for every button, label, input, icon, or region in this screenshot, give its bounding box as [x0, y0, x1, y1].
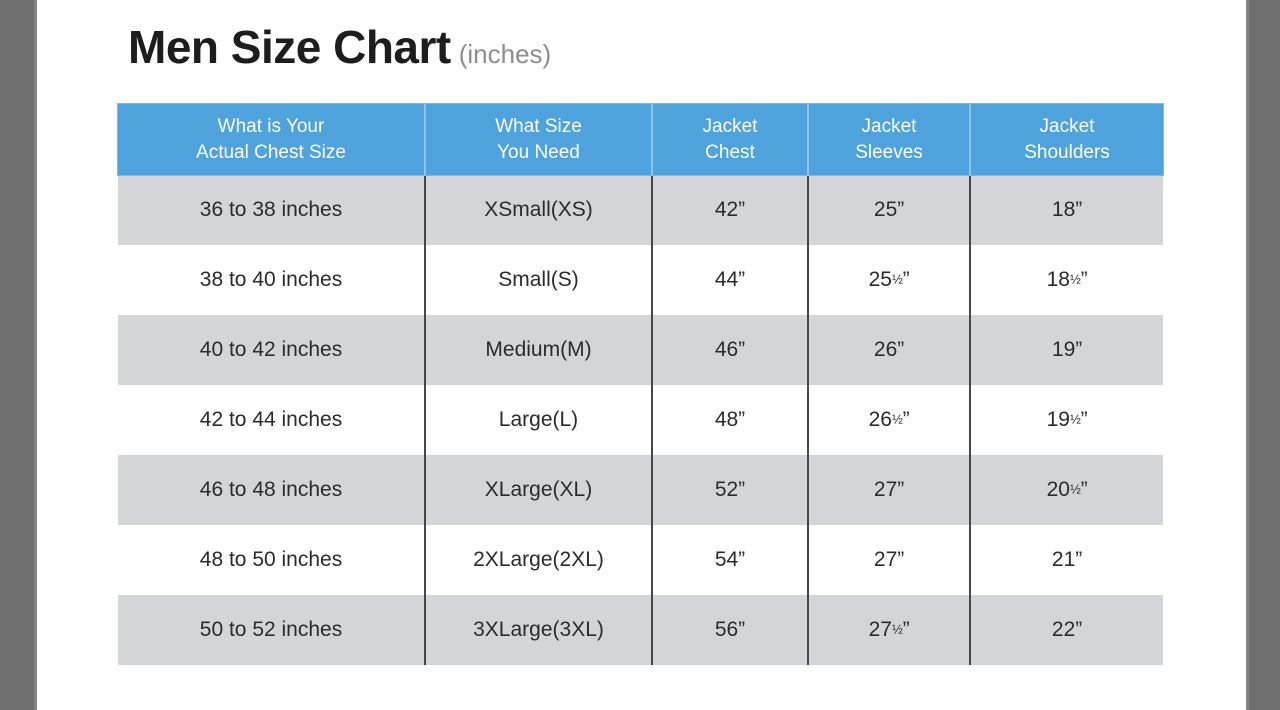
- cell-jacket-shoulders: 19½”: [970, 385, 1163, 455]
- size-chart-page: Men Size Chart(inches) What is Your Actu…: [37, 0, 1246, 710]
- cell-jacket-shoulders: 18”: [970, 175, 1163, 245]
- cell-size-needed: Medium(M): [425, 315, 652, 385]
- table-body: 36 to 38 inches XSmall(XS) 42” 25” 18” 3…: [118, 175, 1163, 665]
- column-header-jacket-chest: Jacket Chest: [652, 104, 808, 175]
- cell-size-needed: Large(L): [425, 385, 652, 455]
- cell-size-needed: XLarge(XL): [425, 455, 652, 525]
- cell-chest-size: 42 to 44 inches: [118, 385, 425, 455]
- column-header-jacket-shoulders-line2: Shoulders: [971, 140, 1163, 165]
- cell-jacket-shoulders: 21”: [970, 525, 1163, 595]
- cell-jacket-sleeves: 25½”: [808, 245, 970, 315]
- cell-jacket-sleeves: 26½”: [808, 385, 970, 455]
- cell-jacket-chest: 48”: [652, 385, 808, 455]
- column-header-jacket-sleeves-line2: Sleeves: [809, 140, 969, 165]
- cell-chest-size: 36 to 38 inches: [118, 175, 425, 245]
- cell-jacket-chest: 54”: [652, 525, 808, 595]
- page-title-unit: (inches): [459, 39, 551, 69]
- table-row: 38 to 40 inches Small(S) 44” 25½” 18½”: [118, 245, 1163, 315]
- cell-size-needed: Small(S): [425, 245, 652, 315]
- cell-jacket-shoulders: 22”: [970, 595, 1163, 665]
- cell-jacket-chest: 56”: [652, 595, 808, 665]
- column-header-jacket-shoulders: Jacket Shoulders: [970, 104, 1163, 175]
- column-header-actual-chest-size-line1: What is Your: [118, 114, 424, 139]
- column-header-jacket-sleeves: Jacket Sleeves: [808, 104, 970, 175]
- column-header-size-you-need-line2: You Need: [426, 140, 651, 165]
- column-header-actual-chest-size-line2: Actual Chest Size: [118, 140, 424, 165]
- cell-size-needed: XSmall(XS): [425, 175, 652, 245]
- cell-chest-size: 50 to 52 inches: [118, 595, 425, 665]
- men-size-chart-table: What is Your Actual Chest Size What Size…: [118, 104, 1163, 665]
- cell-jacket-shoulders: 20½”: [970, 455, 1163, 525]
- cell-jacket-chest: 46”: [652, 315, 808, 385]
- cell-chest-size: 48 to 50 inches: [118, 525, 425, 595]
- column-header-actual-chest-size: What is Your Actual Chest Size: [118, 104, 425, 175]
- cell-chest-size: 40 to 42 inches: [118, 315, 425, 385]
- table-row: 40 to 42 inches Medium(M) 46” 26” 19”: [118, 315, 1163, 385]
- column-header-size-you-need-line1: What Size: [426, 114, 651, 139]
- cell-size-needed: 2XLarge(2XL): [425, 525, 652, 595]
- cell-jacket-sleeves: 27½”: [808, 595, 970, 665]
- table-header-row: What is Your Actual Chest Size What Size…: [118, 104, 1163, 175]
- column-header-size-you-need: What Size You Need: [425, 104, 652, 175]
- column-header-jacket-shoulders-line1: Jacket: [971, 114, 1163, 139]
- cell-size-needed: 3XLarge(3XL): [425, 595, 652, 665]
- letterbox-edge-right: [1246, 0, 1249, 710]
- cell-jacket-sleeves: 27”: [808, 525, 970, 595]
- page-title: Men Size Chart(inches): [128, 20, 551, 74]
- table-row: 46 to 48 inches XLarge(XL) 52” 27” 20½”: [118, 455, 1163, 525]
- cell-jacket-chest: 52”: [652, 455, 808, 525]
- page-title-main: Men Size Chart: [128, 21, 451, 73]
- cell-jacket-chest: 42”: [652, 175, 808, 245]
- cell-chest-size: 46 to 48 inches: [118, 455, 425, 525]
- table-row: 48 to 50 inches 2XLarge(2XL) 54” 27” 21”: [118, 525, 1163, 595]
- letterbox-band-right: [1246, 0, 1280, 710]
- cell-jacket-sleeves: 25”: [808, 175, 970, 245]
- cell-jacket-shoulders: 19”: [970, 315, 1163, 385]
- table-header: What is Your Actual Chest Size What Size…: [118, 104, 1163, 175]
- column-header-jacket-chest-line2: Chest: [653, 140, 807, 165]
- column-header-jacket-chest-line1: Jacket: [653, 114, 807, 139]
- cell-chest-size: 38 to 40 inches: [118, 245, 425, 315]
- letterbox-edge-left: [34, 0, 37, 710]
- letterbox-band-left: [0, 0, 37, 710]
- cell-jacket-sleeves: 26”: [808, 315, 970, 385]
- column-header-jacket-sleeves-line1: Jacket: [809, 114, 969, 139]
- table-row: 36 to 38 inches XSmall(XS) 42” 25” 18”: [118, 175, 1163, 245]
- table-row: 50 to 52 inches 3XLarge(3XL) 56” 27½” 22…: [118, 595, 1163, 665]
- cell-jacket-sleeves: 27”: [808, 455, 970, 525]
- table-row: 42 to 44 inches Large(L) 48” 26½” 19½”: [118, 385, 1163, 455]
- cell-jacket-shoulders: 18½”: [970, 245, 1163, 315]
- cell-jacket-chest: 44”: [652, 245, 808, 315]
